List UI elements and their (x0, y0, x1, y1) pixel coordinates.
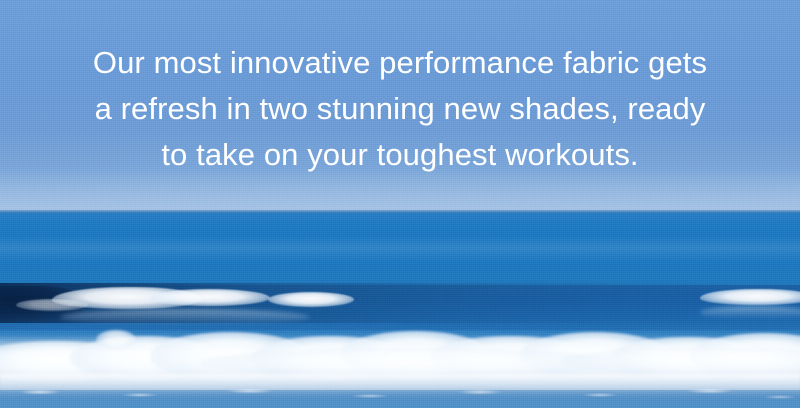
foam-spray (96, 330, 136, 350)
hero-banner: Our most innovative performance fabric g… (0, 0, 800, 408)
headline-line-3: to take on your toughest workouts. (0, 132, 800, 178)
wave-crest-foam (150, 289, 270, 306)
headline-line-2: a refresh in two stunning new shades, re… (0, 86, 800, 132)
wave-crest-foam (700, 289, 800, 305)
wave-crest-reflection (60, 309, 310, 325)
wave-crest-foam (16, 299, 88, 311)
wave-crest-foam (268, 292, 354, 307)
headline-line-1: Our most innovative performance fabric g… (0, 40, 800, 86)
wave-crest-reflection (700, 306, 800, 319)
ocean-sheen (0, 236, 800, 262)
foam-speckles (0, 386, 800, 408)
headline: Our most innovative performance fabric g… (0, 40, 800, 178)
